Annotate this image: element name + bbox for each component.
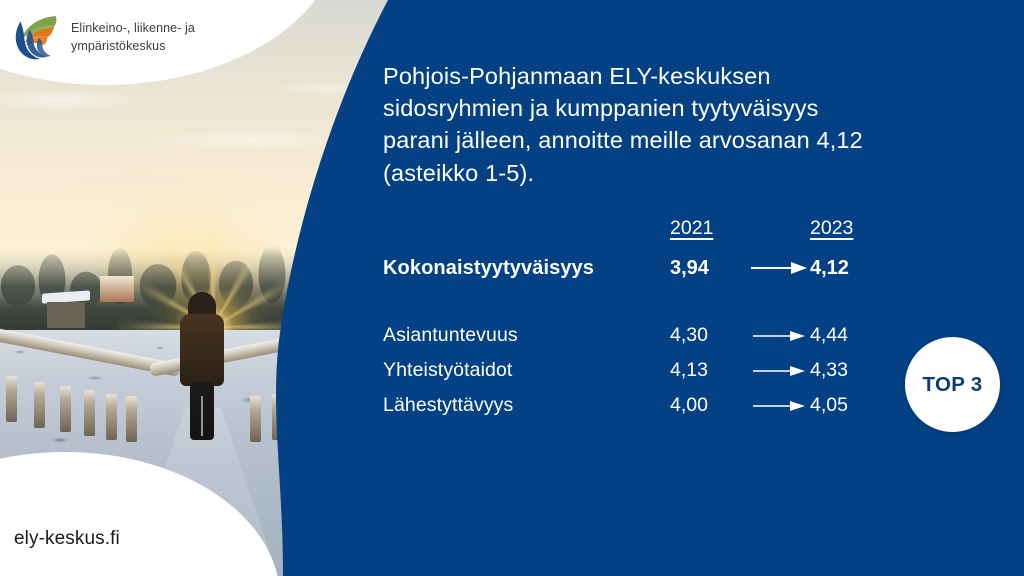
ely-leaf-logo-icon [10, 12, 62, 64]
bridge-post [350, 382, 361, 428]
row-value-2021: 4,00 [670, 394, 748, 417]
person-leg-gap [201, 396, 203, 436]
table-row-total: Kokonaistyytyväisyys 3,94 4,12 [383, 244, 883, 292]
person-coat [180, 314, 224, 386]
table-row: Lähestyttävyys 4,00 4,05 [383, 388, 883, 423]
bridge-post [106, 394, 117, 440]
total-row-value-2021: 3,94 [670, 257, 748, 280]
row-value-2023: 4,44 [810, 324, 882, 347]
house [100, 276, 134, 302]
bridge-post [250, 396, 261, 442]
table-row: Asiantuntevuus 4,30 4,44 [383, 318, 883, 353]
bridge-post [34, 382, 45, 428]
status-badge-label: TOP 3 [923, 373, 983, 397]
table-spacer [383, 292, 883, 318]
total-row-label: Kokonaistyytyväisyys [383, 257, 670, 280]
header-year-2021: 2021 [670, 217, 748, 240]
cabin [42, 292, 90, 328]
satisfaction-table: 2021 2023 Kokonaistyytyväisyys 3,94 4,12… [383, 212, 883, 423]
bridge-post [322, 386, 333, 432]
total-row-value-2023: 4,12 [810, 257, 882, 280]
row-value-2023: 4,33 [810, 359, 882, 382]
bridge-post [272, 394, 283, 440]
row-value-2021: 4,30 [670, 324, 748, 347]
arrow-right-icon [748, 400, 810, 412]
bridge-post [126, 396, 137, 442]
logo: Elinkeino-, liikenne- ja ympäristökeskus [10, 12, 195, 64]
table-header-row: 2021 2023 [383, 212, 883, 244]
bridge-post [60, 386, 71, 432]
cabin-body [47, 302, 85, 328]
bridge-post [296, 390, 307, 436]
arrow-right-icon [748, 330, 810, 342]
arrow-right-icon [748, 365, 810, 377]
table-row: Yhteistyötaidot 4,13 4,33 [383, 353, 883, 388]
slide-root: Elinkeino-, liikenne- ja ympäristökeskus… [0, 0, 1024, 576]
arrow-right-icon [748, 261, 810, 275]
bridge-post [6, 376, 17, 422]
person-walking [176, 292, 228, 440]
header-year-2023: 2023 [810, 217, 882, 240]
bridge-post [84, 390, 95, 436]
row-label: Yhteistyötaidot [383, 359, 670, 382]
row-value-2023: 4,05 [810, 394, 882, 417]
row-label: Lähestyttävyys [383, 394, 670, 417]
page-title: Pohjois-Pohjanmaan ELY-keskuksen sidosry… [383, 60, 923, 189]
site-url: ely-keskus.fi [14, 528, 120, 550]
row-value-2021: 4,13 [670, 359, 748, 382]
status-badge: TOP 3 [905, 337, 1000, 432]
logo-organization-name: Elinkeino-, liikenne- ja ympäristökeskus [71, 20, 195, 56]
clouds [0, 70, 400, 220]
row-label: Asiantuntevuus [383, 324, 670, 347]
